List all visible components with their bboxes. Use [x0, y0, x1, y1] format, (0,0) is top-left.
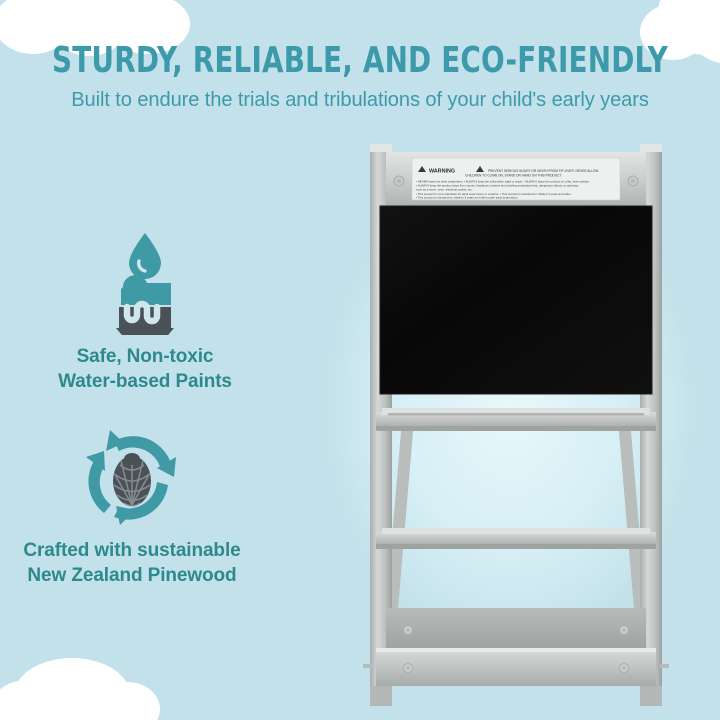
svg-text:• This product is intended for: • This product is intended for children … — [416, 195, 518, 199]
chalkboard-panel — [380, 206, 652, 394]
easel-right-foot — [640, 686, 662, 706]
warning-label: WARNING PREVENT SERIOUS INJURY OR DEATH … — [412, 158, 620, 200]
cloud-bottom-left-icon — [0, 658, 180, 720]
recycle-pinecone-icon — [0, 422, 282, 532]
promo-banner: STURDY, RELIABLE, AND ECO-FRIENDLY Built… — [0, 0, 720, 720]
feature-caption: Safe, Non-toxic Water-based Paints — [0, 344, 295, 394]
subheadline: Built to endure the trials and tribulati… — [7, 88, 713, 112]
feature-caption-line1: Crafted with sustainable — [0, 538, 282, 563]
svg-text:CHILDREN TO CLIMB ON, STAND OR: CHILDREN TO CLIMB ON, STAND OR HANG ON T… — [465, 173, 561, 177]
feature-non-toxic-paint: Safe, Non-toxic Water-based Paints — [0, 228, 295, 394]
feature-caption-line2: Water-based Paints — [0, 369, 295, 394]
svg-text:WARNING: WARNING — [429, 169, 455, 175]
middle-tray — [376, 528, 656, 549]
feature-sustainable-wood: Crafted with sustainable New Zealand Pin… — [0, 422, 282, 588]
bottom-tray — [363, 608, 669, 686]
upper-tray — [376, 408, 656, 431]
easel-left-foot — [370, 686, 392, 706]
headline: STURDY, RELIABLE, AND ECO-FRIENDLY — [50, 40, 669, 81]
product-image-kids-art-easel: WARNING PREVENT SERIOUS INJURY OR DEATH … — [330, 120, 710, 720]
paint-brush-water-drop-icon — [0, 228, 295, 338]
feature-caption: Crafted with sustainable New Zealand Pin… — [0, 538, 282, 588]
feature-caption-line1: Safe, Non-toxic — [0, 344, 295, 369]
feature-caption-line2: New Zealand Pinewood — [0, 563, 282, 588]
